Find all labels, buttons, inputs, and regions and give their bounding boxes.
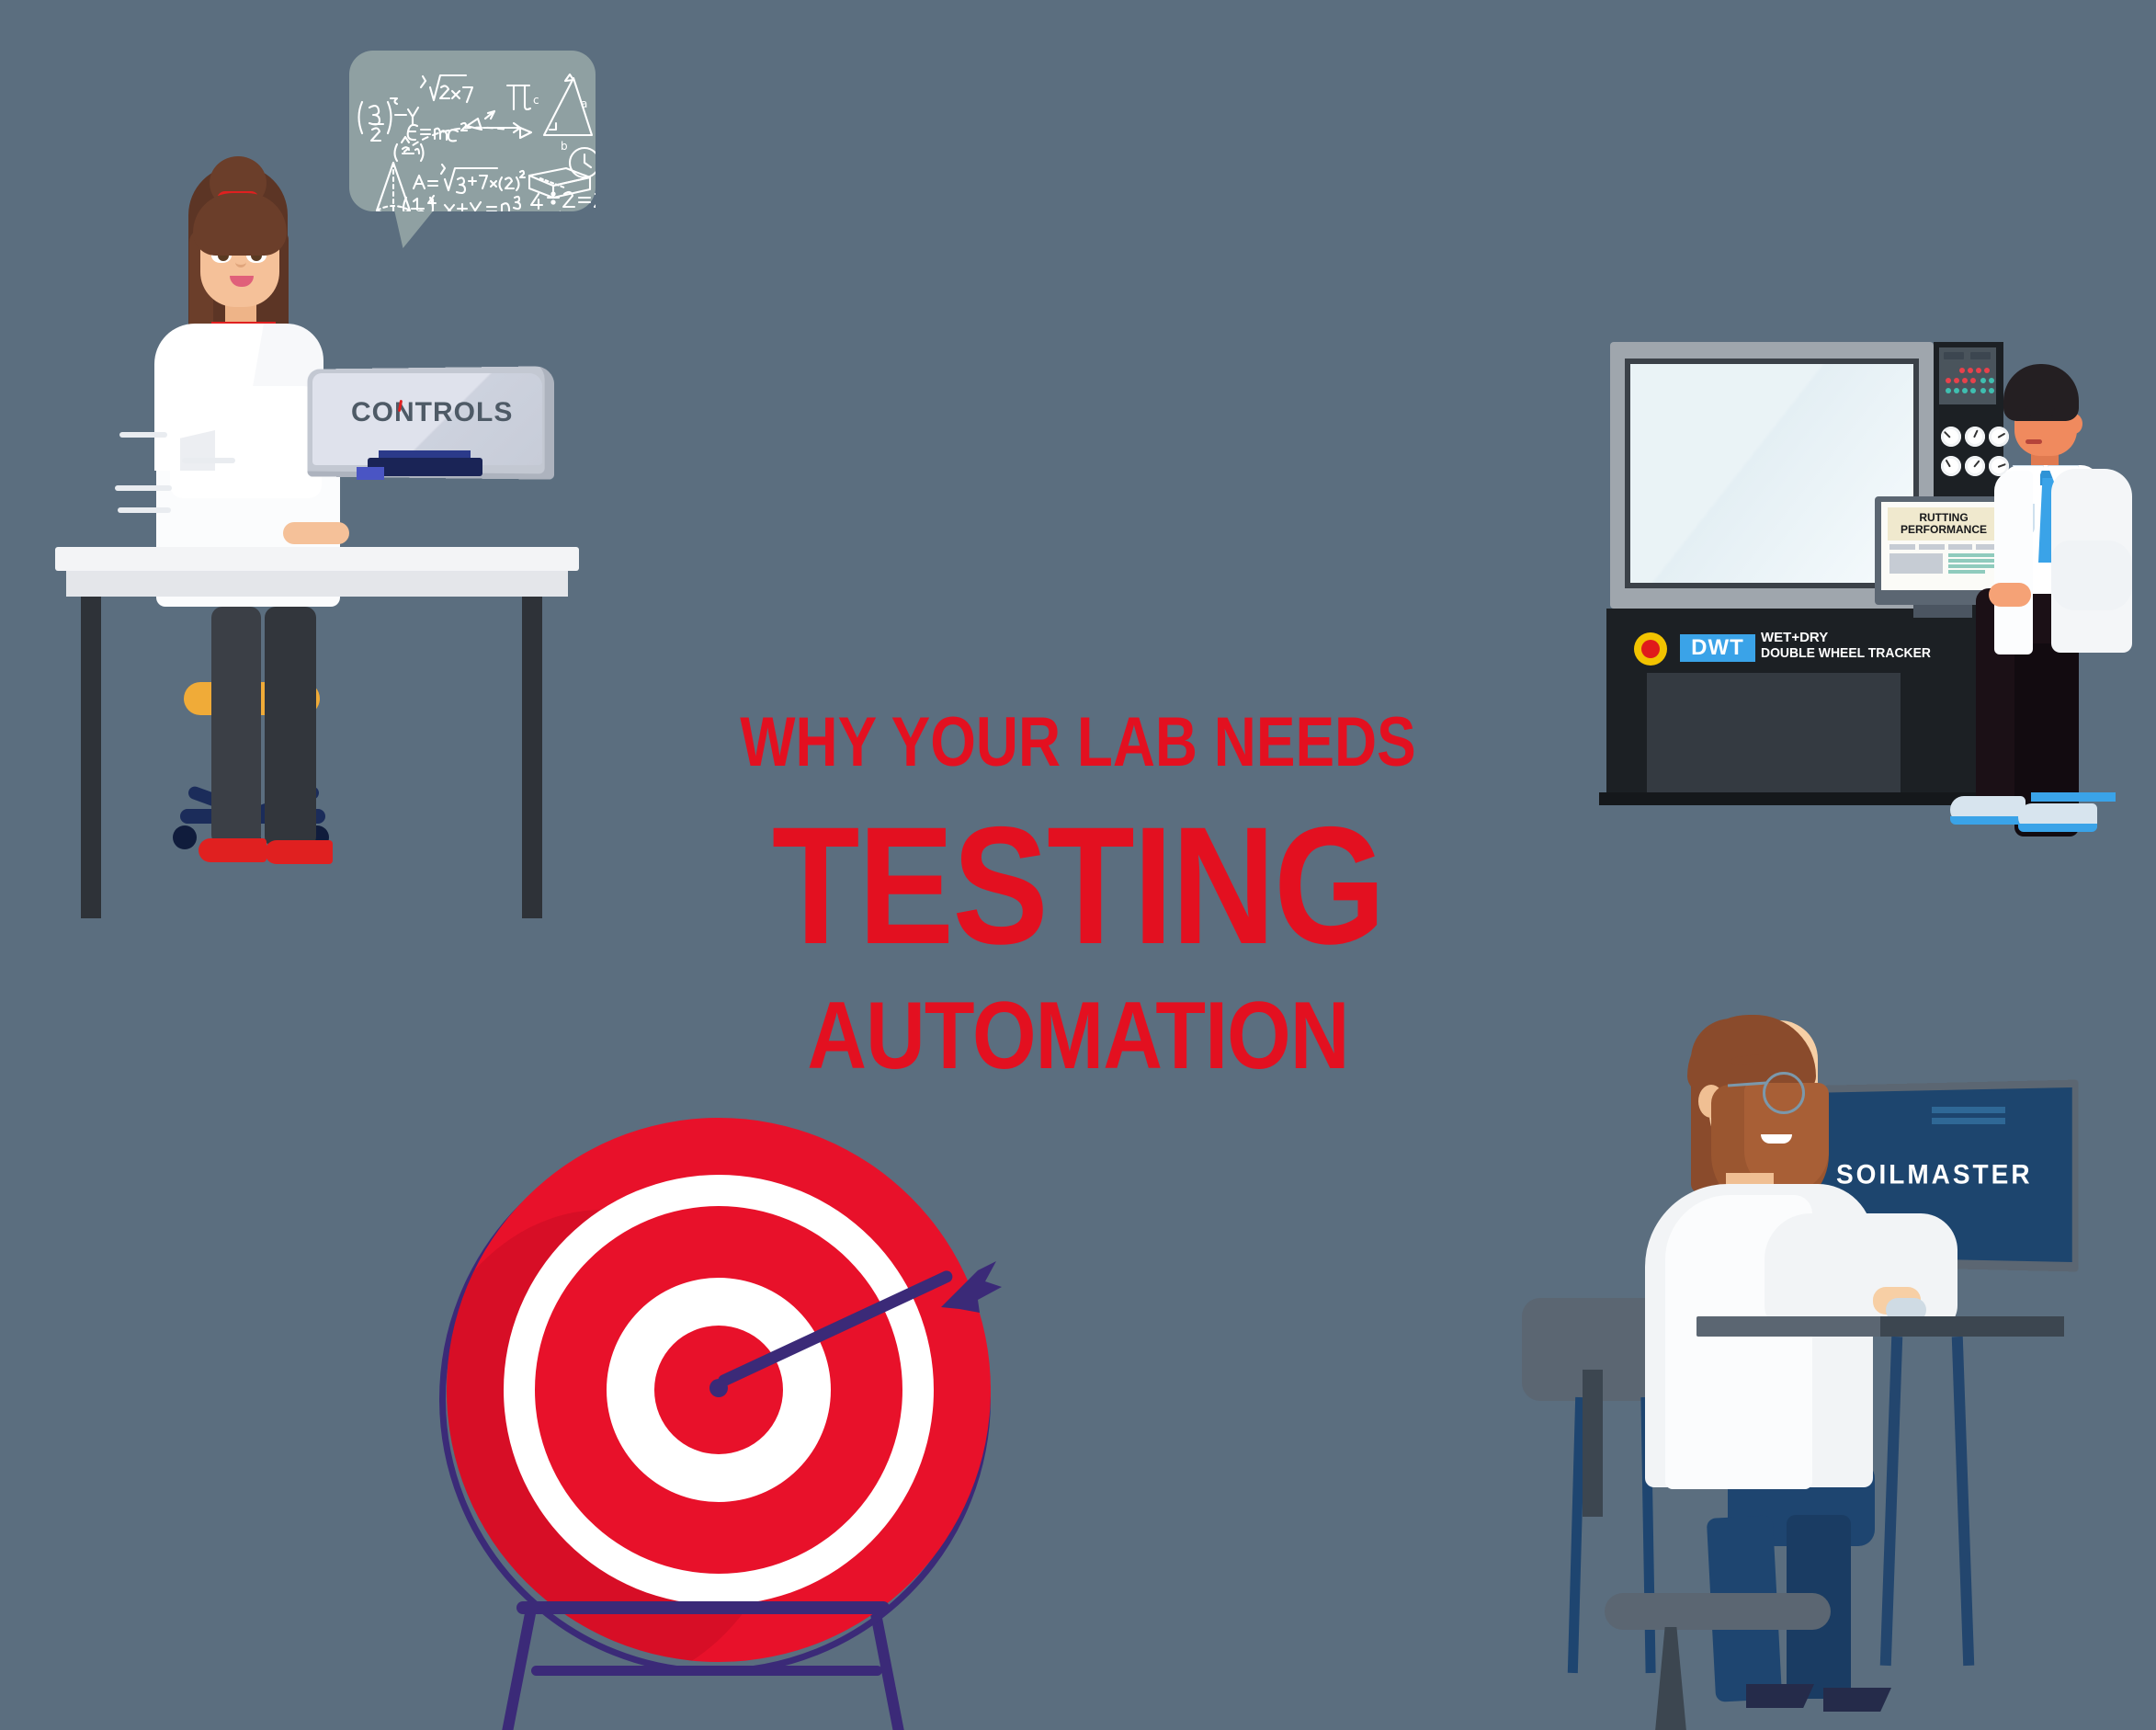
laptop-base <box>368 458 482 476</box>
woman-leg-right <box>265 607 316 848</box>
desk-surface-right <box>1880 1316 2064 1337</box>
rutting-performance-report: RUTTING PERFORMANCE <box>1888 507 2000 541</box>
dwt-subtitle-line1: WET+DRY <box>1761 631 1828 645</box>
dwt-led-display <box>1939 347 1996 404</box>
chair-back-post <box>1583 1370 1603 1517</box>
woman-shoe-left <box>199 838 267 862</box>
woman-shoe-right <box>265 840 333 864</box>
desk-apron <box>66 571 568 597</box>
glasses-lens-icon <box>1763 1072 1805 1114</box>
poster-canvas: c a b <box>0 0 2156 1730</box>
laptop-base-accent <box>357 467 384 480</box>
technician-shoe-right-sole <box>2018 824 2097 832</box>
woman-leg-left <box>211 607 261 846</box>
desk-top <box>55 547 579 571</box>
dwt-badge-label: DWT <box>1680 634 1755 662</box>
scientist-mouth <box>1761 1134 1792 1144</box>
emergency-stop-button[interactable] <box>1641 640 1660 658</box>
svg-text:b: b <box>561 140 568 153</box>
technician-hand <box>1989 583 2031 607</box>
woman-hair-front <box>193 193 287 256</box>
pen-line <box>118 507 171 513</box>
dwt-gauge <box>1965 456 1985 476</box>
scientist-shoe-back <box>1823 1688 1891 1712</box>
svg-text:a: a <box>581 97 587 110</box>
dwt-gauge <box>1941 456 1961 476</box>
arrow-tip <box>709 1379 728 1397</box>
technician-labcoat-left <box>1994 471 2033 654</box>
report-bar <box>1948 544 1972 550</box>
target-stand-crossbar <box>531 1666 882 1676</box>
report-line <box>1948 553 2000 557</box>
technician-arm <box>2051 541 2132 610</box>
desk-leg-right <box>522 597 542 918</box>
technician-mouth <box>2026 439 2042 444</box>
soilmaster-logo: SOILMASTER <box>1836 1159 2048 1190</box>
arrow-fletching-icon <box>937 1259 1009 1331</box>
scientist-shoe-front <box>1746 1684 1814 1708</box>
report-bar <box>1889 544 1915 550</box>
technician-eye <box>2029 415 2053 420</box>
pen-line <box>115 485 172 491</box>
chair-seat <box>1605 1593 1831 1630</box>
controls-logo-text: CONTROLS <box>351 397 513 428</box>
report-line <box>1948 564 2000 568</box>
pen-line <box>182 458 235 463</box>
controls-logo: CONTROLS <box>351 397 512 428</box>
chair-wheel <box>173 825 197 849</box>
math-formulas-icon: c a b <box>349 51 596 211</box>
dwt-gauge <box>1989 427 2009 447</box>
report-bar <box>1919 544 1945 550</box>
report-title-line2: PERFORMANCE <box>1901 524 1987 536</box>
report-block <box>1889 553 1943 574</box>
desk-leg-left <box>81 597 101 918</box>
woman-hand <box>283 522 349 544</box>
thought-bubble: c a b <box>349 51 596 211</box>
report-line <box>1948 559 2000 563</box>
target-stand-bar <box>516 1601 890 1614</box>
pen-line <box>119 432 167 438</box>
report-line <box>1948 570 1985 574</box>
screen-ui-bar <box>1932 1107 2005 1113</box>
technician-shoe-left-sole <box>1950 816 2026 825</box>
screen-ui-bar <box>1932 1118 2005 1124</box>
technician-eyebrow <box>2026 406 2055 413</box>
svg-text:b: b <box>559 211 564 211</box>
dwt-lower-window <box>1647 673 1901 792</box>
dwt-glass-window <box>1630 364 1913 583</box>
dwt-monitor-stand <box>1913 605 1972 618</box>
scientist-arm <box>1765 1213 1957 1333</box>
dwt-gauge <box>1965 427 1985 447</box>
dwt-subtitle-line2: DOUBLE WHEEL TRACKER <box>1761 646 1931 661</box>
floor-accent-line <box>2031 792 2116 802</box>
dwt-gauge <box>1941 427 1961 447</box>
svg-text:c: c <box>533 94 539 107</box>
